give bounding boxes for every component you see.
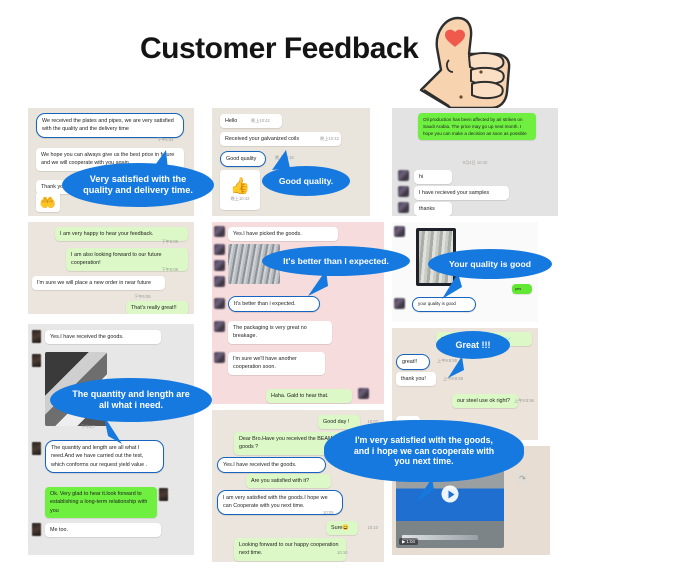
chat-bubble: Yes.I have received the goods. [45, 330, 161, 344]
chat-bubble: Yes.I have received the goods. [217, 457, 326, 473]
thumbs-up-hand-icon [415, 10, 520, 115]
avatar [214, 276, 225, 287]
avatar [394, 226, 405, 237]
callout-very-satisfied: Very satisfied with thequality and deliv… [62, 163, 214, 207]
chat-bubble: I'm sure we will place a new order in ne… [32, 276, 165, 290]
chat-bubble: Ok. Very glad to hear it.look forward to… [45, 487, 157, 518]
chat-bubble: hi [414, 170, 452, 184]
avatar [32, 330, 41, 343]
timestamp: 下午5:08 [134, 294, 151, 300]
callout-great: Great !!! [436, 331, 510, 359]
forward-arrow-icon[interactable]: ↷ [516, 472, 529, 485]
timestamp: 晚上10:42 [320, 136, 339, 142]
avatar [214, 244, 225, 255]
play-icon[interactable] [442, 486, 459, 503]
chat-bubble: yes [512, 284, 532, 294]
callout-good-quality: Good quality. [262, 166, 350, 196]
chat-bubble: Oil production has been affected by air … [418, 113, 536, 140]
callout-your-quality: Your quality is good [428, 249, 552, 279]
avatar [398, 186, 409, 197]
timestamp: 下午5:08 [161, 267, 178, 273]
timestamp: 10:10 [368, 525, 378, 530]
chat-bubble: Haha. Gald to hear that. [266, 389, 352, 403]
chat-bubble: our steel use ok right? [452, 394, 518, 408]
chat-bubble: great!! [396, 354, 430, 370]
callout-quantity-length: The quantity and length areall what i ne… [50, 378, 212, 422]
page-title: Customer Feedback [140, 32, 418, 66]
chat-bubble: Yes.I have picked the goods. [228, 227, 338, 241]
avatar [32, 523, 41, 536]
chat-bubble: thank you! [396, 372, 436, 386]
chat-bubble-text: Sure [331, 525, 342, 531]
grin-emoji: 😄 [342, 525, 349, 531]
timestamp: 10:09 [323, 510, 333, 515]
timestamp: 下午2:7 [81, 424, 95, 430]
timestamp: 晚上10:42 [251, 118, 270, 124]
chat-bubble: Me too. [45, 523, 161, 537]
timestamp: 晚上10:42 [231, 196, 250, 202]
chat-bubble: It's better than i expected. [228, 296, 320, 312]
chat-bubble: The packaging is very great no breakage. [228, 321, 332, 344]
avatar [214, 298, 225, 309]
timestamp: 下午5:08 [161, 239, 178, 245]
date-separator: 9月4日 10:40 [440, 160, 510, 166]
avatar [214, 226, 225, 237]
folded-hands-emoji: 🤲 [36, 192, 60, 212]
chat-bubble: We received the plates and pipes, we are… [36, 113, 184, 138]
video-duration: ▶ 1:04 [399, 538, 418, 545]
avatar [214, 321, 225, 332]
chat-bubble: That's really great!! [126, 301, 188, 314]
chat-bubble: Looking forward to our happy cooperation… [234, 538, 346, 561]
timestamp: 上午9:8:56 [514, 398, 534, 404]
avatar [214, 352, 225, 363]
avatar [32, 442, 41, 455]
thumbs-up-emoji: 👍 晚上10:42 [220, 170, 260, 210]
chat-bubble: I'm sure we'll have another cooperation … [228, 352, 325, 375]
chat-panel-mid-left: I am very happy to hear your feedback. 下… [28, 222, 194, 314]
chat-bubble: Are you satisfied with it? [246, 474, 331, 488]
avatar [398, 170, 409, 181]
chat-panel-top-right: Oil production has been affected by air … [392, 108, 558, 216]
avatar [398, 202, 409, 213]
avatar [159, 488, 168, 501]
timestamp: 10:10 [337, 550, 347, 555]
avatar [394, 298, 405, 309]
avatar [32, 354, 41, 367]
callout-very-satisfied-goods: I'm very satisfied with the goods,and i … [324, 420, 524, 482]
chat-bubble: Sure😄 [326, 521, 358, 535]
chat-bubble: I have recieved your samples [414, 186, 509, 200]
feedback-collage: Customer Feedback We received the plates… [0, 0, 680, 574]
chat-bubble: Good quality [220, 151, 266, 167]
callout-better-expected: It's better than I expected. [262, 246, 410, 276]
avatar [214, 260, 225, 271]
avatar [358, 388, 369, 399]
chat-bubble: thanks [414, 202, 452, 216]
timestamp: 下午5:04 [157, 137, 174, 143]
